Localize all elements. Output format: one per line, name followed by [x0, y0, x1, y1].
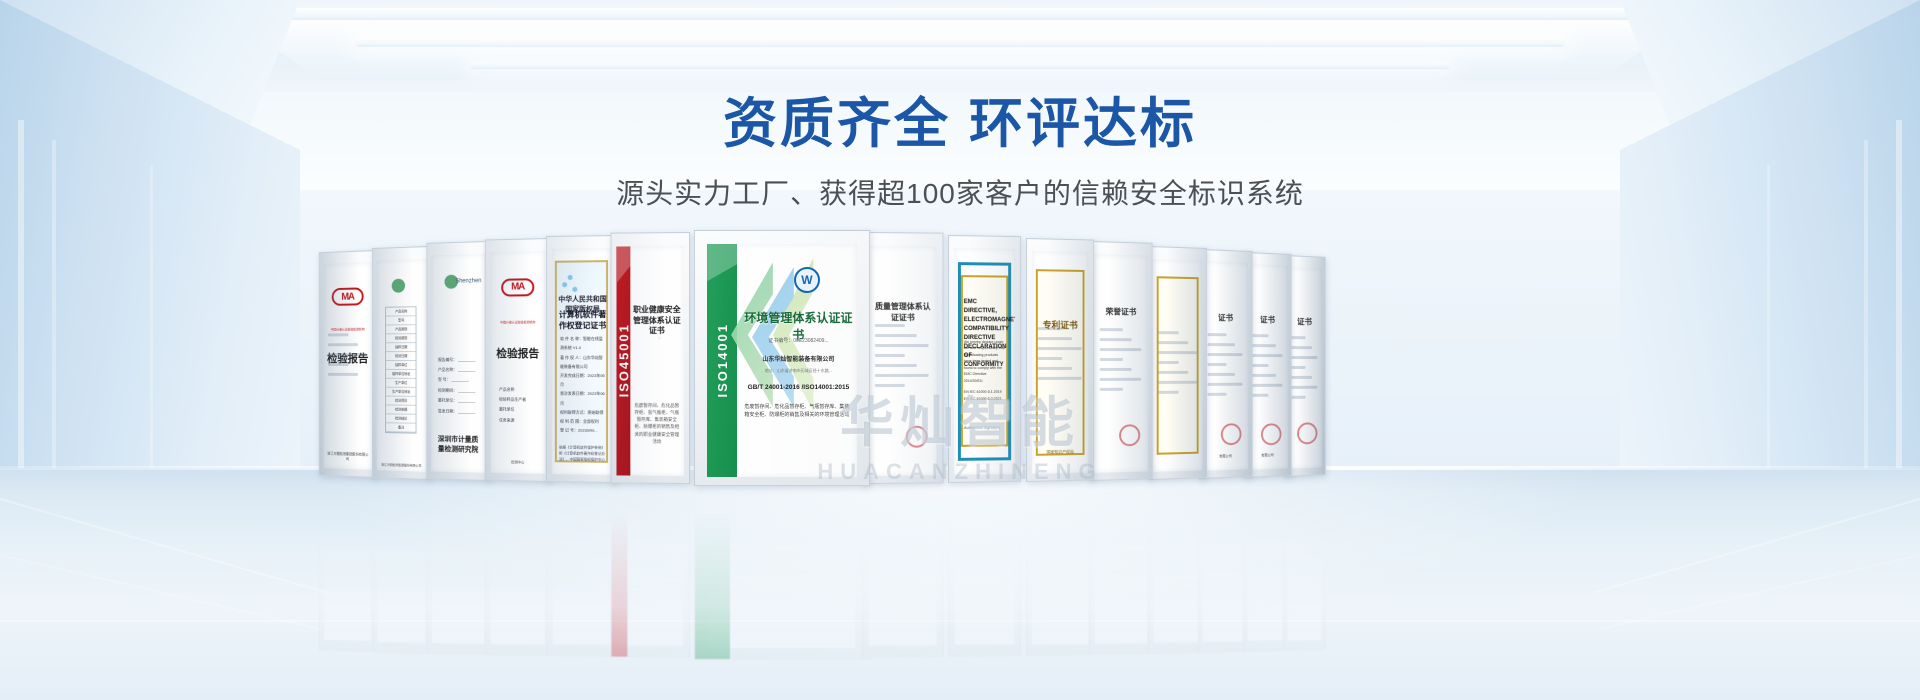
certificate-paper: 证书有限公司 [1203, 262, 1248, 471]
certificate-footer: 深圳市计量质量检测研究院 [435, 434, 482, 455]
certificate-paper: 产品名称型号产品类别检测类别抽样日期检测日期抽样单位抽样单位地址生产单位生产单位… [377, 259, 426, 472]
cnas-seal [391, 278, 404, 292]
ma-seal-caption: 中国计量认证检验检测机构 [500, 320, 535, 324]
floor-glow [310, 468, 1610, 628]
ma-seal: MA [501, 278, 534, 296]
certificate-paper: MA中国计量认证检验检测机构检验报告产品名称检验样品生产者委托单位任务来源检测中… [490, 251, 545, 473]
certificate-title: 证书 [1206, 312, 1244, 323]
document-lines [1037, 327, 1081, 387]
certificate-footer: 依据《计算机软件保护条例》和《计算机软件著作权登记办法》，中国国家版权保护中心 [559, 444, 605, 463]
lab-name: Shenzhen [455, 278, 481, 284]
page-subtitle: 源头实力工厂、获得超100家客户的信赖安全标识系统 [0, 172, 1920, 212]
certificate-paper: 荣誉证书 [1094, 254, 1147, 473]
table-row: 备注 [387, 423, 417, 432]
document-lines [1251, 334, 1282, 404]
ma-seal: MA [332, 288, 364, 307]
certificate-title: 证书 [1251, 314, 1285, 325]
table-row: 检测日期 [387, 352, 417, 361]
certificate-title: 证书 [1290, 316, 1320, 327]
certificate-paper: MA中国计量认证检验检测机构检验报告浙江方圆检测集团股份有限公司 [324, 262, 372, 470]
certificate-paper: 证书 [1287, 267, 1322, 469]
table-row: 检测依据 [387, 405, 417, 414]
certificate-fields: 报告编号： ________产品名称： ________型 号： _______… [438, 355, 480, 417]
certificate-panel[interactable]: ISO45001职业健康安全管理体系认证证书危废暂存间、危化品暂存柜、氢气瓶柜、… [611, 232, 690, 484]
certificate-footer: 浙江方圆检测集团股份有限公司 [380, 462, 423, 467]
certificate-wall: MA中国计量认证检验检测机构检验报告浙江方圆检测集团股份有限公司产品名称型号产品… [0, 226, 1920, 486]
certificate-footer: 浙江方圆检测集团股份有限公司 [326, 450, 369, 461]
table-row: 检测类别 [387, 334, 417, 343]
table-row: 型号 [387, 316, 417, 325]
promo-banner: 资质齐全 环评达标 源头实力工厂、获得超100家客户的信赖安全标识系统 MA中国… [0, 0, 1920, 700]
certificate-fields: 软 件 名 称：智能在线监测系统 V1.0著 作 权 人：山东华灿智能装备有限公… [560, 334, 605, 435]
certificate-panel[interactable]: 专利证书国家知识产权局 [1026, 238, 1094, 482]
certificate-panel[interactable]: EMC DIRECTIVE,ELECTROMAGNETIC COMPATIBIL… [948, 235, 1021, 483]
certificate-title: 荣誉证书 [1099, 307, 1144, 318]
document-lines [328, 333, 366, 383]
certificate-footer: 有限公司 [1205, 452, 1245, 458]
certificate-title-line2: 计算机软件著作权登记证书 [558, 309, 608, 331]
headline-block: 资质齐全 环评达标 源头实力工厂、获得超100家客户的信赖安全标识系统 [0, 95, 1920, 212]
certificate-panel[interactable]: 质量管理体系认证证书 [862, 232, 943, 484]
certificate-title: 质量管理体系认证证书 [874, 301, 931, 323]
certificate-fields: 产品名称检验样品生产者委托单位任务来源 [499, 384, 538, 426]
certificate-paper: ISO45001职业健康安全管理体系认证证书危废暂存间、危化品暂存柜、氢气瓶柜、… [617, 246, 684, 476]
certificate-footer: 国家知识产权局 [1036, 449, 1084, 456]
certificate-paper: 中华人民共和国国家版权局计算机软件著作权登记证书软 件 名 称：智能在线监测系统… [552, 248, 611, 474]
certificate-body: We hereby declare under our sole respons… [964, 339, 1007, 384]
certificate-signature: Authorized Signature [964, 424, 1001, 429]
document-lines [1207, 333, 1242, 403]
certificate-footer: 检测中心 [493, 459, 542, 465]
table-row: 产品名称 [387, 307, 417, 316]
certificate-paper: 专利证书国家知识产权局 [1032, 251, 1089, 473]
document-lines [1290, 336, 1317, 406]
certificate-panel[interactable]: MA中国计量认证检验检测机构检验报告浙江方圆检测集团股份有限公司 [319, 250, 377, 478]
certificate-panel[interactable]: 产品名称型号产品类别检测类别抽样日期检测日期抽样单位抽样单位地址生产单位生产单位… [372, 246, 431, 480]
certificate-footer: 有限公司 [1250, 452, 1285, 458]
table-row: 抽样单位 [387, 361, 417, 370]
certificate-paper: 质量管理体系认证证书 [869, 246, 937, 476]
certificate-paper: ISO14001W环境管理体系认证证书证书编号：00E23082409...山东… [707, 244, 857, 478]
certificate-panel[interactable]: 荣誉证书 [1089, 241, 1153, 481]
certificate-title: 检验报告 [490, 345, 545, 361]
certificate-panel[interactable]: MA中国计量认证检验检测机构检验报告产品名称检验样品生产者委托单位任务来源检测中… [485, 238, 551, 482]
page-title: 资质齐全 环评达标 [0, 95, 1920, 154]
certificate-panel[interactable]: 中华人民共和国国家版权局计算机软件著作权登记证书软 件 名 称：智能在线监测系统… [546, 235, 617, 483]
document-lines [1158, 331, 1196, 401]
table-row: 生产单位 [387, 378, 417, 387]
certificate-standards: EN IEC 61000-6-1:2019EN IEC 61000-6-3:20… [964, 388, 1007, 403]
document-lines [875, 324, 928, 394]
certificate-panel[interactable]: ISO14001W环境管理体系认证证书证书编号：00E23082409...山东… [694, 230, 870, 486]
certificate-paper [1153, 259, 1202, 472]
certificate-panel[interactable]: Shenzhen报告编号： ________产品名称： ________型 号：… [426, 241, 490, 481]
certificate-paper: EMC DIRECTIVE,ELECTROMAGNETIC COMPATIBIL… [954, 248, 1015, 474]
table-row: 产品类别 [387, 325, 417, 334]
table-row: 抽样日期 [387, 343, 417, 352]
report-table: 产品名称型号产品类别检测类别抽样日期检测日期抽样单位抽样单位地址生产单位生产单位… [386, 306, 417, 433]
table-row: 生产单位地址 [387, 387, 417, 396]
ma-seal-caption: 中国计量认证检验检测机构 [331, 327, 365, 331]
table-row: 检测项目 [387, 396, 417, 405]
certificate-paper: 证书有限公司 [1247, 264, 1287, 470]
table-row: 抽样单位地址 [387, 369, 417, 378]
document-lines [1100, 328, 1141, 398]
certificate-panel[interactable] [1148, 246, 1207, 480]
certificate-paper: Shenzhen报告编号： ________产品名称： ________型 号：… [432, 254, 485, 473]
